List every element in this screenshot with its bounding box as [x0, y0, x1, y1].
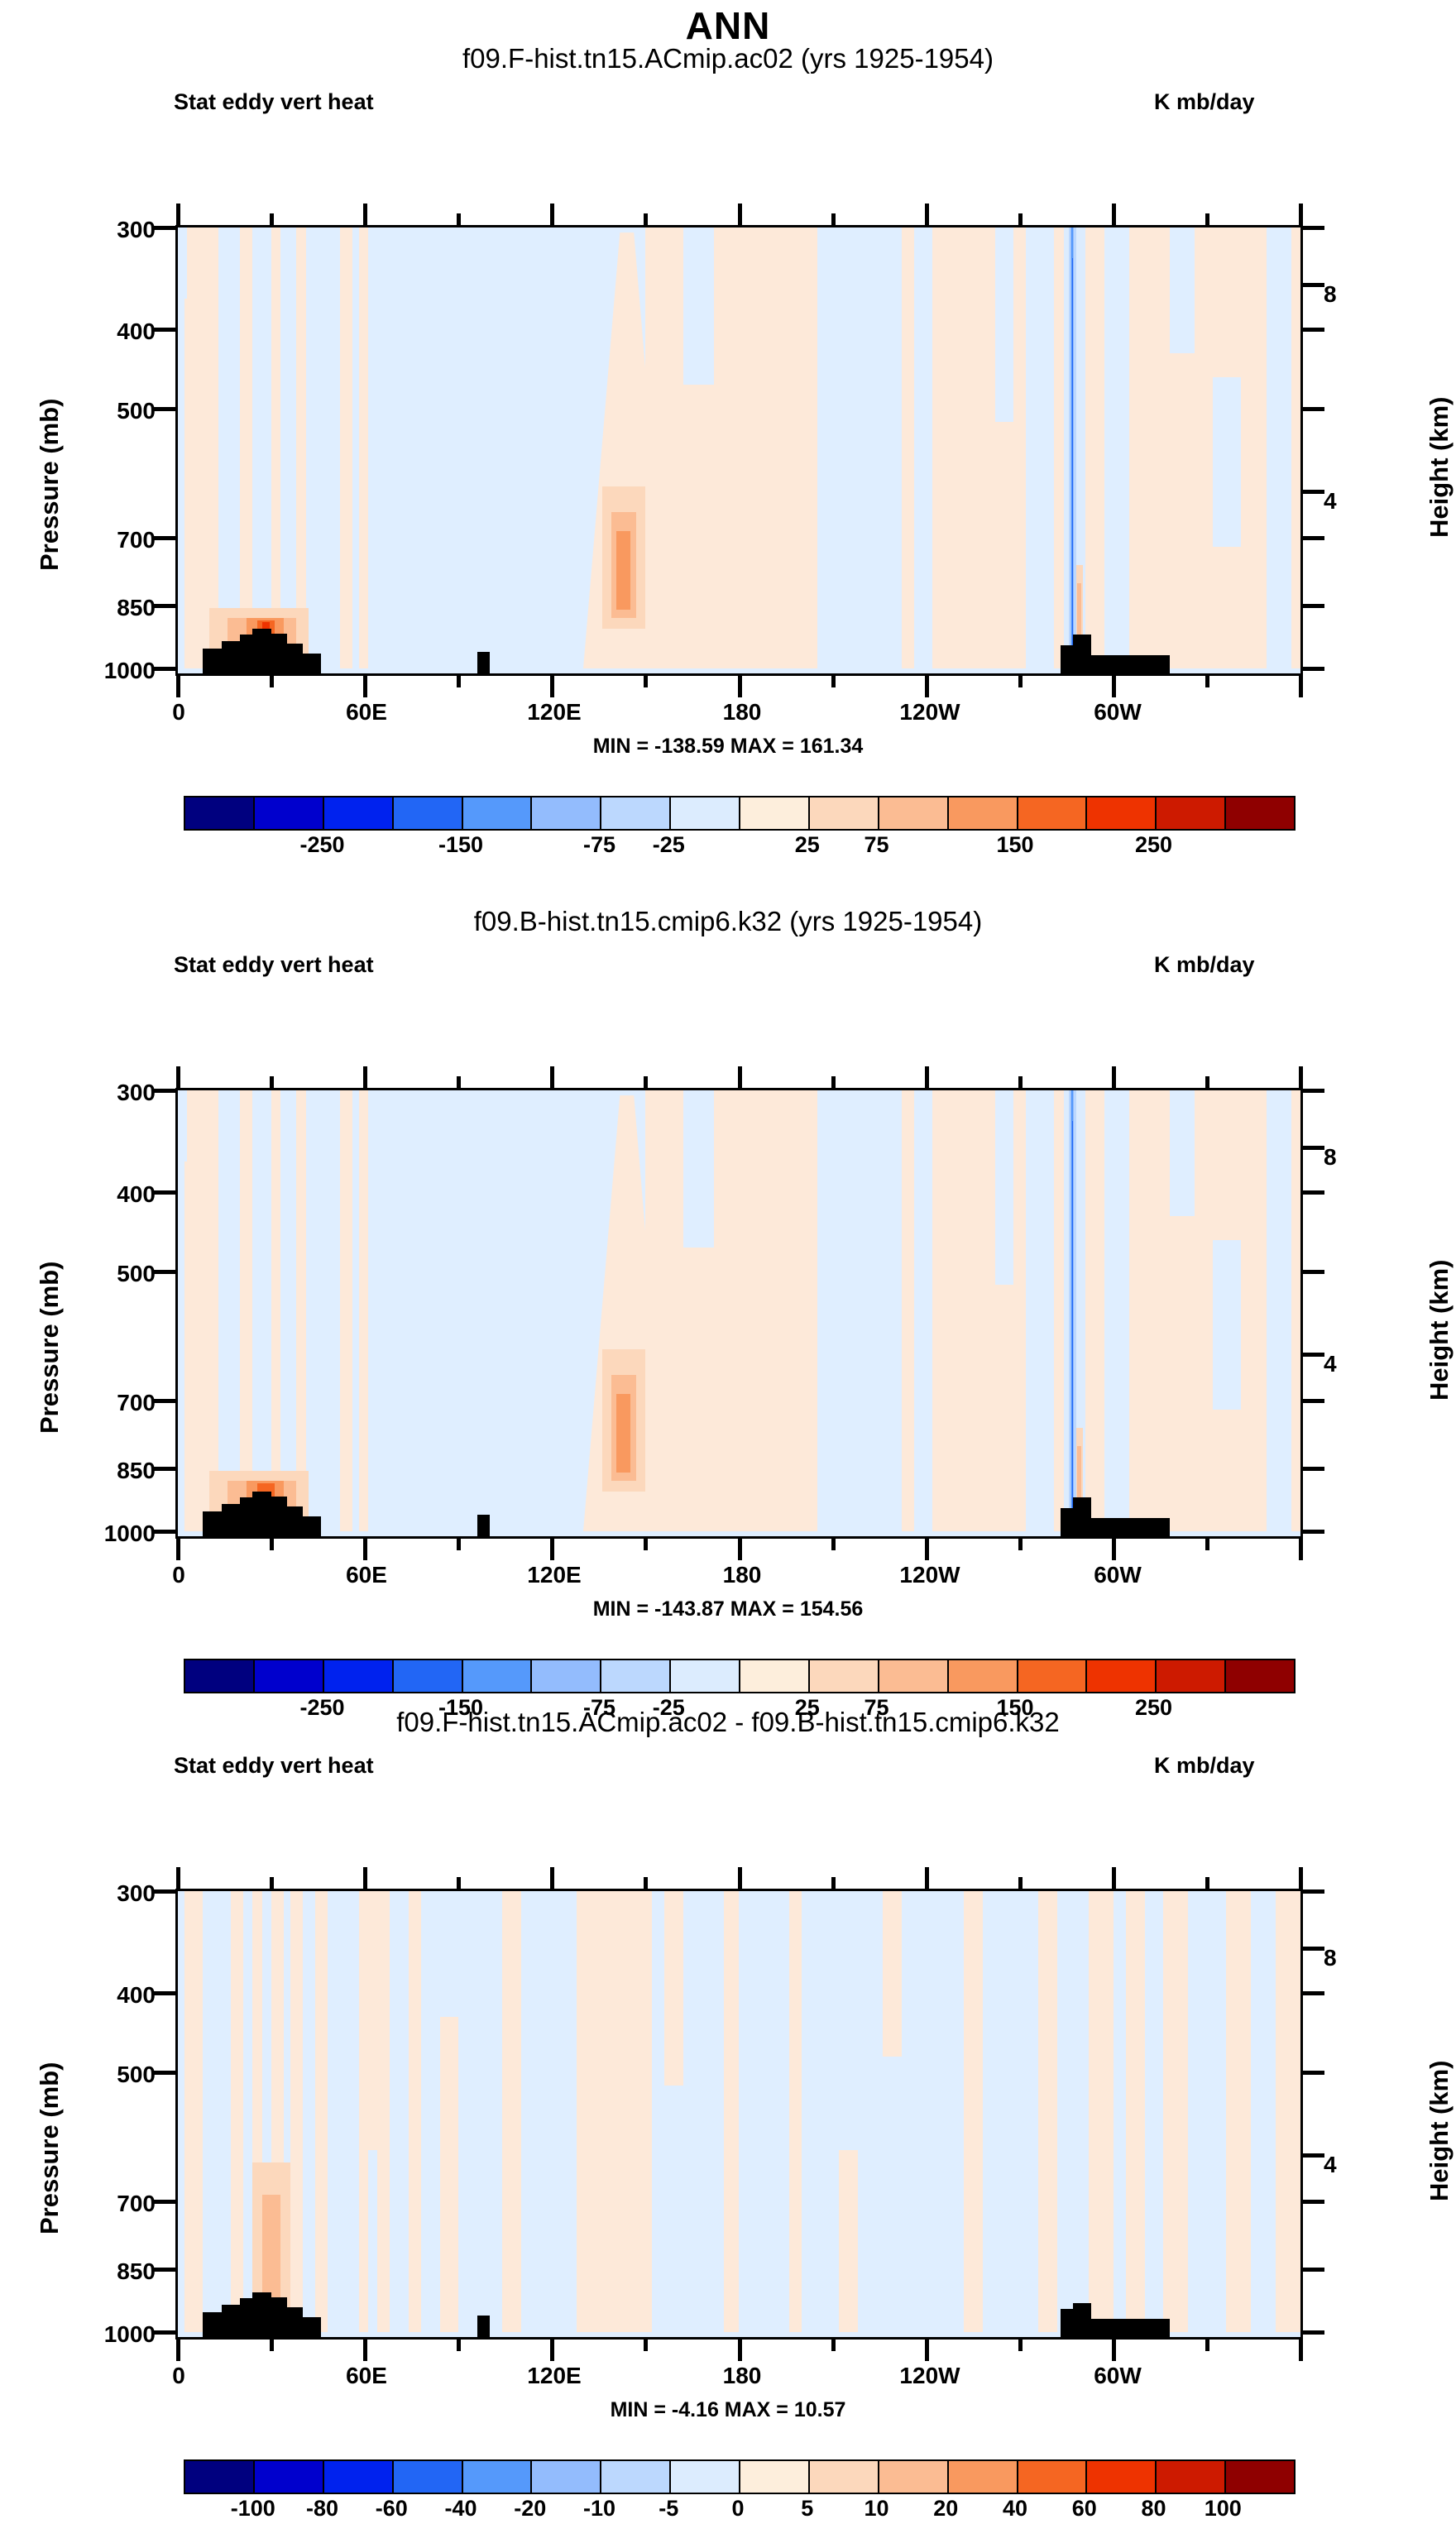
x-tick-major: [1112, 1066, 1116, 1088]
x-tick-major: [925, 1066, 929, 1088]
panel-2-ytick-1000: 1000: [79, 1521, 156, 1547]
colorbar-cell: [532, 2461, 601, 2493]
panel-3-xtick-0: 0: [129, 2363, 228, 2389]
panel-1-ytick-850: 850: [79, 595, 156, 621]
panel-2: f09.B-hist.tn15.cmip6.k32 (yrs 1925-1954…: [0, 856, 1456, 1696]
colorbar-cell: [601, 2461, 671, 2493]
panel-2-variable-label: Stat eddy vert heat: [174, 952, 374, 978]
colorbar-cell: [324, 2461, 394, 2493]
contour-region: [995, 1090, 1014, 1285]
panel-3-ytick-300: 300: [79, 1880, 156, 1907]
contour-region: [340, 1090, 352, 1531]
contour-region: [184, 227, 218, 668]
x-tick-minor: [831, 213, 836, 225]
panel-2-xtick-120W: 120W: [880, 1562, 979, 1588]
x-tick-minor: [644, 1877, 648, 1889]
contour-region: [240, 1090, 252, 1531]
colorbar-cell: [1226, 2461, 1294, 2493]
contour-region: [1126, 1891, 1145, 2332]
panel-1-ytick-400: 400: [79, 318, 156, 345]
x-tick-major: [738, 1539, 742, 1560]
topography-mask: [303, 654, 322, 673]
topography-mask: [203, 2312, 222, 2337]
panel-3-title: f09.F-hist.tn15.ACmip.ac02 - f09.B-hist.…: [0, 1707, 1456, 1738]
x-tick-major: [1299, 676, 1303, 697]
y2-tick-major: [1303, 283, 1324, 287]
contour-region: [817, 1090, 902, 1531]
x-tick-minor: [1205, 1877, 1209, 1889]
x-tick-minor: [1205, 1539, 1209, 1550]
x-tick-minor: [1018, 676, 1023, 687]
topography-mask: [222, 2305, 241, 2337]
x-tick-major: [550, 2340, 554, 2361]
y-tick-major: [1303, 1991, 1324, 1995]
y-tick-major: [1303, 1889, 1324, 1894]
colorbar-cell: [949, 2461, 1018, 2493]
colorbar-tick-label: 100: [1173, 2496, 1272, 2522]
colorbar-cell: [671, 2461, 740, 2493]
y-tick-major: [1303, 328, 1324, 332]
colorbar-cell: [185, 2461, 255, 2493]
panel-2-xtick-60W: 60W: [1068, 1562, 1167, 1588]
topography-mask: [477, 652, 490, 673]
colorbar-tick-label: 250: [1104, 832, 1204, 858]
topography-mask: [240, 2298, 252, 2337]
contour-region: [839, 2150, 858, 2332]
colorbar-cell: [1157, 797, 1226, 829]
y-tick-major: [1303, 2200, 1324, 2204]
panel-3-xtick-180: 180: [692, 2363, 792, 2389]
contour-region: [1267, 1090, 1291, 1531]
panel-1-xtick-120E: 120E: [505, 699, 604, 726]
x-tick-minor: [270, 676, 274, 687]
y-tick-major: [1303, 407, 1324, 411]
y-tick-major: [1303, 667, 1324, 671]
x-tick-major: [1299, 1066, 1303, 1088]
panel-1-minmax: MIN = -138.59 MAX = 161.34: [0, 735, 1456, 759]
contour-region: [184, 1891, 204, 2332]
topography-mask: [477, 2316, 490, 2337]
panel-2-ytick-400: 400: [79, 1181, 156, 1208]
x-tick-major: [176, 1066, 180, 1088]
panel-3-ytick-500: 500: [79, 2062, 156, 2088]
contour-region: [502, 1891, 521, 2332]
x-tick-major: [363, 1867, 367, 1889]
colorbar-cell: [671, 797, 740, 829]
topography-mask: [271, 2297, 287, 2337]
panel-2-y2tick-8: 8: [1324, 1144, 1400, 1171]
contour-region: [577, 1891, 651, 2332]
contour-region: [1072, 1121, 1073, 1531]
panel-3-ylabel-right: Height (km): [1425, 2061, 1454, 2202]
topography-mask: [1091, 1518, 1169, 1536]
x-tick-minor: [270, 213, 274, 225]
panel-1-ylabel-right: Height (km): [1425, 397, 1454, 539]
colorbar-tick-label: -25: [619, 832, 718, 858]
x-tick-major: [176, 1867, 180, 1889]
panel-1-variable-label: Stat eddy vert heat: [174, 89, 374, 115]
x-tick-major: [550, 1867, 554, 1889]
contour-region: [231, 1891, 243, 2332]
x-tick-major: [176, 676, 180, 697]
x-tick-major: [550, 1539, 554, 1560]
colorbar-cell: [879, 797, 949, 829]
topography-mask: [252, 1492, 271, 1536]
x-tick-major: [550, 676, 554, 697]
panel-3-xtick-120E: 120E: [505, 2363, 604, 2389]
x-tick-minor: [831, 1076, 836, 1088]
panel-1-ytick-700: 700: [79, 527, 156, 553]
y-tick-major: [1303, 2071, 1324, 2075]
x-tick-minor: [1205, 213, 1209, 225]
topography-mask: [1073, 635, 1092, 673]
x-tick-minor: [457, 1877, 461, 1889]
topography-mask: [271, 1497, 287, 1536]
topography-mask: [203, 1511, 222, 1536]
topography-mask: [1073, 1497, 1092, 1536]
contour-region: [1213, 1240, 1241, 1410]
y-tick-major: [154, 536, 175, 540]
contour-region: [1170, 1090, 1195, 1216]
colorbar-cell: [879, 2461, 949, 2493]
contour-region: [296, 227, 305, 668]
panel-2-xtick-180: 180: [692, 1562, 792, 1588]
panel-1-xtick-0: 0: [129, 699, 228, 726]
x-tick-major: [925, 204, 929, 225]
contour-region: [440, 2017, 459, 2332]
x-tick-minor: [644, 1539, 648, 1550]
x-tick-minor: [270, 2340, 274, 2351]
x-tick-minor: [270, 1877, 274, 1889]
contour-region: [359, 1090, 368, 1531]
x-tick-major: [925, 676, 929, 697]
colorbar-cell: [185, 797, 255, 829]
panel-1-xtick-120W: 120W: [880, 699, 979, 726]
topography-mask: [1073, 2303, 1092, 2337]
x-tick-minor: [457, 213, 461, 225]
y-tick-major: [154, 1991, 175, 1995]
y-tick-major: [154, 1530, 175, 1534]
x-tick-major: [738, 1867, 742, 1889]
topography-mask: [222, 1504, 241, 1536]
x-tick-major: [1299, 1539, 1303, 1560]
contour-region: [1226, 1891, 1251, 2332]
topography-mask: [1061, 645, 1073, 673]
panel-3-xtick-60E: 60E: [317, 2363, 416, 2389]
x-tick-major: [738, 2340, 742, 2361]
x-tick-major: [1112, 2340, 1116, 2361]
x-tick-major: [176, 204, 180, 225]
panel-3-minmax: MIN = -4.16 MAX = 10.57: [0, 2398, 1456, 2422]
contour-region: [359, 227, 368, 668]
contour-region: [1072, 258, 1073, 668]
y-tick-major: [154, 1270, 175, 1274]
y2-tick-major: [1303, 1146, 1324, 1150]
y-tick-major: [154, 407, 175, 411]
panel-2-xtick-120E: 120E: [505, 1562, 604, 1588]
x-tick-major: [738, 1066, 742, 1088]
panel-2-y2tick-4: 4: [1324, 1351, 1400, 1377]
x-tick-major: [550, 1066, 554, 1088]
colorbar-cell: [810, 797, 879, 829]
x-tick-major: [550, 204, 554, 225]
topography-mask: [1061, 1508, 1073, 1536]
contour-region: [817, 227, 902, 668]
x-tick-minor: [270, 1539, 274, 1550]
topography-mask: [287, 2307, 303, 2337]
y-tick-major: [154, 604, 175, 608]
contour-region: [178, 227, 187, 299]
topography-mask: [240, 1497, 252, 1536]
contour-region: [616, 531, 630, 610]
x-tick-minor: [457, 676, 461, 687]
topography-mask: [222, 641, 241, 673]
y-tick-major: [1303, 1089, 1324, 1093]
colorbar-cell: [810, 2461, 879, 2493]
x-tick-major: [1112, 676, 1116, 697]
x-tick-major: [1299, 204, 1303, 225]
y-tick-major: [154, 1190, 175, 1195]
panel-1-y2tick-8: 8: [1324, 281, 1400, 308]
panel-1-units-label: K mb/day: [1154, 89, 1255, 115]
panel-2-ytick-700: 700: [79, 1390, 156, 1416]
contour-region: [683, 227, 715, 385]
topography-mask: [477, 1515, 490, 1536]
panel-1-xtick-180: 180: [692, 699, 792, 726]
contour-region: [409, 1891, 421, 2332]
y-tick-major: [1303, 1399, 1324, 1403]
panel-3-y2tick-4: 4: [1324, 2152, 1400, 2178]
y-tick-major: [1303, 1530, 1324, 1534]
contour-region: [1026, 227, 1054, 668]
x-tick-minor: [1018, 2340, 1023, 2351]
y2-tick-major: [1303, 2153, 1324, 2158]
y-tick-major: [154, 1399, 175, 1403]
colorbar-cell: [394, 797, 463, 829]
contour-region: [1104, 227, 1129, 668]
y-tick-major: [1303, 536, 1324, 540]
x-tick-major: [176, 1539, 180, 1560]
contour-region: [964, 1891, 983, 2332]
panel-1-xtick-60W: 60W: [1068, 699, 1167, 726]
colorbar-cell: [324, 797, 394, 829]
contour-region: [377, 1891, 390, 2332]
topography-mask: [1091, 655, 1169, 673]
x-tick-minor: [1018, 213, 1023, 225]
panel-1-xtick-60E: 60E: [317, 699, 416, 726]
x-tick-minor: [831, 1877, 836, 1889]
panel-2-title: f09.B-hist.tn15.cmip6.k32 (yrs 1925-1954…: [0, 906, 1456, 937]
y-tick-major: [154, 667, 175, 671]
contour-region: [240, 227, 252, 668]
panel-3-ytick-700: 700: [79, 2191, 156, 2217]
x-tick-major: [363, 2340, 367, 2361]
panel-2-minmax: MIN = -143.87 MAX = 154.56: [0, 1597, 1456, 1621]
contour-region: [184, 1090, 218, 1531]
y-tick-major: [154, 2071, 175, 2075]
panel-3-units-label: K mb/day: [1154, 1753, 1255, 1779]
x-tick-minor: [644, 676, 648, 687]
panel-3-y2tick-8: 8: [1324, 1945, 1400, 1971]
y-tick-major: [154, 1467, 175, 1471]
y2-tick-major: [1303, 1353, 1324, 1357]
panel-3-ytick-400: 400: [79, 1982, 156, 2009]
panel-1-y2tick-4: 4: [1324, 488, 1400, 515]
panel-2-xtick-0: 0: [129, 1562, 228, 1588]
contour-region: [365, 1891, 377, 2150]
y-tick-major: [1303, 1467, 1324, 1471]
contour-region: [883, 1891, 902, 2057]
x-tick-minor: [1018, 1539, 1023, 1550]
panel-3-ytick-850: 850: [79, 2258, 156, 2285]
colorbar-cell: [1018, 2461, 1088, 2493]
contour-region: [914, 1090, 933, 1531]
x-tick-minor: [457, 1076, 461, 1088]
colorbar-cell: [1087, 797, 1157, 829]
y-tick-major: [1303, 604, 1324, 608]
x-tick-minor: [457, 2340, 461, 2351]
contour-region: [1163, 1891, 1188, 2332]
y-tick-major: [154, 328, 175, 332]
x-tick-minor: [644, 2340, 648, 2351]
panel-3-ytick-1000: 1000: [79, 2321, 156, 2348]
y-tick-major: [1303, 1190, 1324, 1195]
colorbar-tick-label: -250: [273, 832, 372, 858]
contour-region: [271, 1090, 280, 1531]
contour-region: [296, 1090, 305, 1531]
x-tick-minor: [644, 213, 648, 225]
colorbar-cell: [740, 2461, 810, 2493]
contour-region: [914, 227, 933, 668]
colorbar-cell: [1018, 797, 1088, 829]
y-tick-major: [154, 1889, 175, 1894]
topography-mask: [303, 2317, 322, 2337]
x-tick-major: [176, 2340, 180, 2361]
x-tick-major: [363, 676, 367, 697]
panel-2-ytick-500: 500: [79, 1261, 156, 1287]
x-tick-minor: [457, 1539, 461, 1550]
colorbar-tick-label: 150: [965, 832, 1065, 858]
x-tick-major: [363, 1539, 367, 1560]
topography-mask: [240, 635, 252, 673]
x-tick-minor: [644, 1076, 648, 1088]
panel-1-ylabel-left: Pressure (mb): [35, 399, 65, 571]
topography-mask: [303, 1516, 322, 1536]
contour-region: [1267, 227, 1291, 668]
topography-mask: [203, 649, 222, 673]
panel-3-xtick-120W: 120W: [880, 2363, 979, 2389]
contour-region: [664, 1891, 683, 2086]
x-tick-minor: [831, 1539, 836, 1550]
contour-region: [1026, 1090, 1054, 1531]
x-tick-minor: [1205, 1076, 1209, 1088]
topography-mask: [252, 629, 271, 673]
x-tick-major: [925, 1867, 929, 1889]
x-tick-major: [738, 204, 742, 225]
contour-region: [290, 1891, 303, 2332]
panel-2-xtick-60E: 60E: [317, 1562, 416, 1588]
topography-mask: [287, 1506, 303, 1536]
contour-region: [315, 1891, 328, 2332]
panel-2-ylabel-left: Pressure (mb): [35, 1262, 65, 1434]
x-tick-major: [1112, 1867, 1116, 1889]
colorbar-cell: [949, 797, 1018, 829]
contour-region: [1038, 1891, 1057, 2332]
x-tick-minor: [1018, 1877, 1023, 1889]
colorbar-cell: [601, 797, 671, 829]
x-tick-major: [925, 2340, 929, 2361]
contour-region: [1104, 1090, 1129, 1531]
y-tick-major: [154, 226, 175, 230]
panel-3-plot: [175, 1889, 1303, 2340]
y-tick-major: [154, 2268, 175, 2272]
contour-region: [178, 1090, 187, 1161]
x-tick-major: [363, 204, 367, 225]
x-tick-major: [738, 676, 742, 697]
colorbar-cell: [463, 2461, 533, 2493]
panel-3-colorbar-labels: -100-80-60-40-20-10-5051020406080100: [184, 2496, 1292, 2524]
y2-tick-major: [1303, 1947, 1324, 1951]
y-tick-major: [1303, 2330, 1324, 2335]
contour-region: [724, 1891, 740, 2332]
panel-1-ytick-500: 500: [79, 398, 156, 424]
colorbar-cell: [1226, 797, 1294, 829]
colorbar-tick-label: -150: [411, 832, 510, 858]
contour-region: [789, 1891, 802, 2332]
y-tick-major: [154, 2330, 175, 2335]
topography-mask: [271, 634, 287, 673]
x-tick-minor: [1205, 676, 1209, 687]
topography-mask: [252, 2292, 271, 2337]
y-tick-major: [154, 2200, 175, 2204]
colorbar-cell: [255, 2461, 324, 2493]
contour-region: [1213, 377, 1241, 547]
contour-region: [683, 1090, 715, 1248]
colorbar-cell: [394, 2461, 463, 2493]
x-tick-minor: [270, 1076, 274, 1088]
colorbar-cell: [463, 797, 533, 829]
colorbar-tick-label: 75: [827, 832, 927, 858]
y-tick-major: [1303, 1270, 1324, 1274]
contour-region: [1089, 1891, 1114, 2332]
panel-1-ytick-1000: 1000: [79, 658, 156, 684]
x-tick-minor: [831, 676, 836, 687]
panel-1-plot: [175, 225, 1303, 676]
topography-mask: [1061, 2309, 1073, 2337]
panel-1: f09.F-hist.tn15.ACmip.ac02 (yrs 1925-195…: [0, 0, 1456, 860]
x-tick-major: [1112, 204, 1116, 225]
contour-region: [1276, 1891, 1300, 2332]
panel-2-units-label: K mb/day: [1154, 952, 1255, 978]
contour-region: [616, 1394, 630, 1473]
panel-3: f09.F-hist.tn15.ACmip.ac02 - f09.B-hist.…: [0, 1667, 1456, 2460]
topography-mask: [1091, 2319, 1169, 2337]
panel-1-title: f09.F-hist.tn15.ACmip.ac02 (yrs 1925-195…: [0, 43, 1456, 74]
x-tick-minor: [831, 2340, 836, 2351]
x-tick-major: [925, 1539, 929, 1560]
panel-3-colorbar: [184, 2459, 1296, 2494]
contour-region: [340, 227, 352, 668]
panel-3-ylabel-left: Pressure (mb): [35, 2062, 65, 2234]
colorbar-cell: [1157, 2461, 1226, 2493]
topography-mask: [287, 644, 303, 673]
y-tick-major: [1303, 226, 1324, 230]
panel-3-xtick-60W: 60W: [1068, 2363, 1167, 2389]
y2-tick-major: [1303, 490, 1324, 494]
colorbar-cell: [255, 797, 324, 829]
colorbar-cell: [1087, 2461, 1157, 2493]
x-tick-major: [1112, 1539, 1116, 1560]
